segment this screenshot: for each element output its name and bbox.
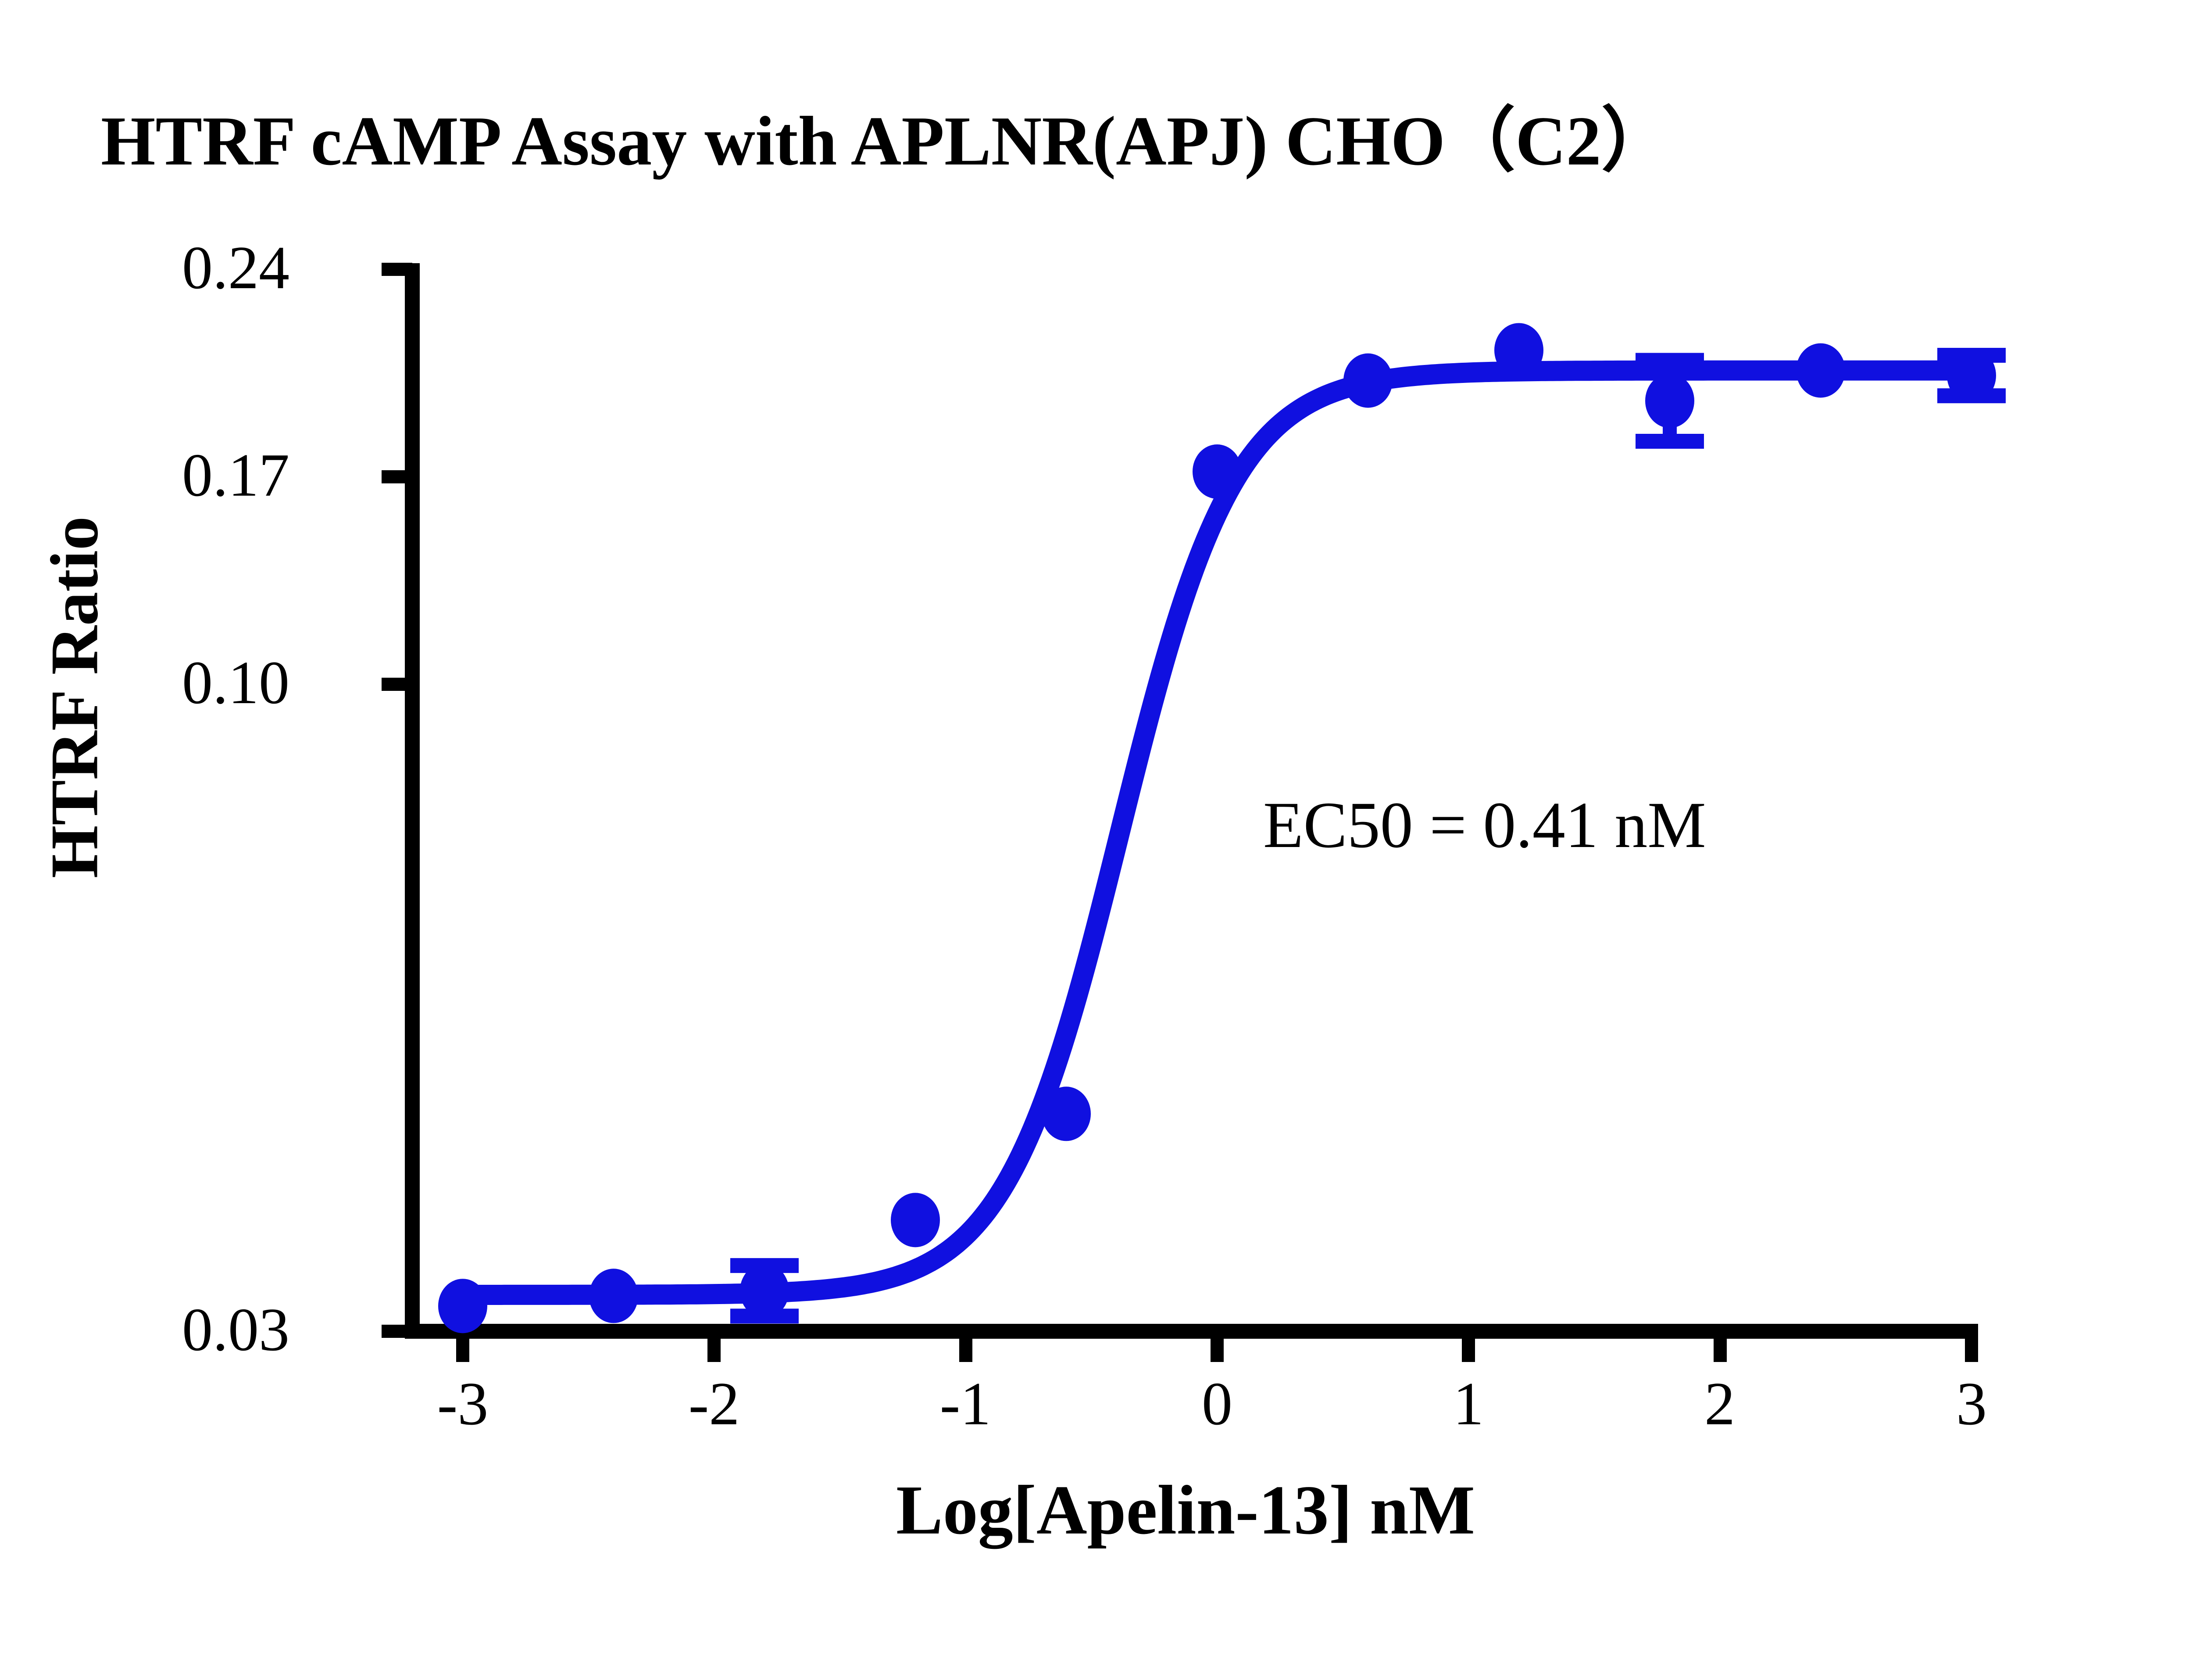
data-point-marker [1343,354,1393,408]
data-point-marker [1947,348,1996,403]
chart-figure: HTRF cAMP Assay with APLNR(APJ) CHO（C2） … [0,0,2193,1680]
data-point-marker [740,1264,789,1318]
data-point-marker [891,1193,940,1247]
plot-area [0,0,2193,1680]
data-point-markers [438,323,1996,1333]
error-bars [730,355,2006,1316]
data-point-marker [589,1269,638,1323]
axis-lines [405,263,1978,1333]
data-point-marker [438,1279,487,1333]
data-point-marker [1645,374,1694,428]
dose-response-curve [463,371,1972,1295]
data-point-marker [1042,1087,1091,1141]
data-point-marker [1193,444,1242,499]
data-point-marker [1796,343,1845,398]
data-point-marker [1494,323,1543,377]
